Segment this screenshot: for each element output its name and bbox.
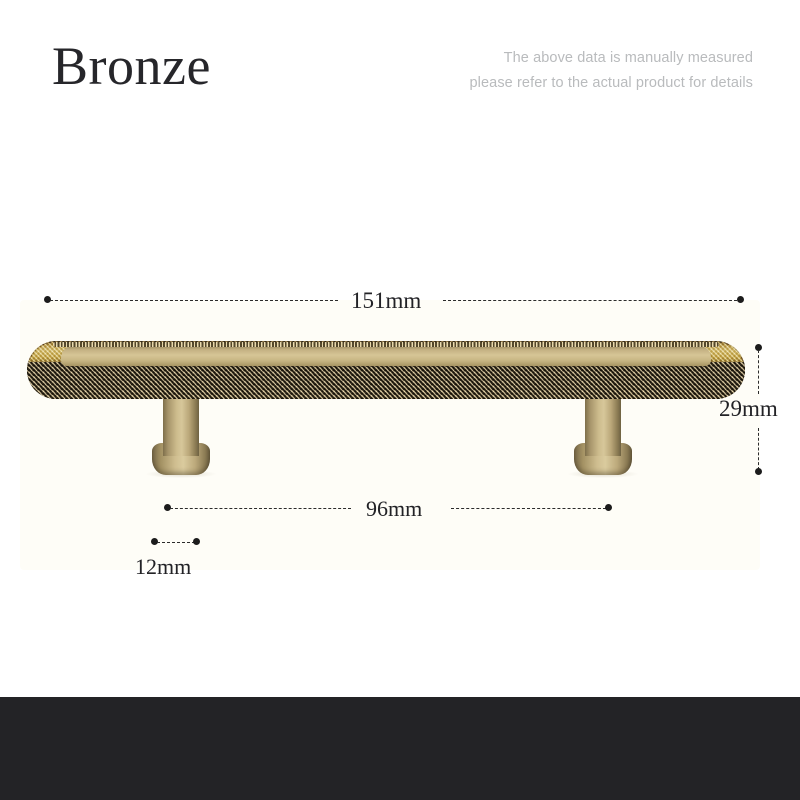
dimension-label-projection-height: 29mm [719,396,778,422]
mounting-post-right [585,396,621,456]
spec-bar: Material / Solid Brass Weight / 113g [0,697,800,800]
beaded-rim [53,342,719,347]
dimension-endpoint-dot [605,504,612,511]
dimension-line [157,542,195,543]
product-spec-image: Bronze The above data is manually measur… [0,0,800,800]
dimension-label-post-diameter: 12mm [135,554,191,580]
dimension-line-right [451,508,606,509]
dimension-line-left [170,508,351,509]
knurled-texture-band [27,362,745,399]
dimension-endpoint-dot [193,538,200,545]
mounting-post-left [163,396,199,456]
product-illustration [0,0,800,800]
dimension-line-lower [758,428,759,470]
handle-bar [27,341,745,399]
dimension-line-upper [758,350,759,394]
dimension-endpoint-dot [755,468,762,475]
dimension-label-center-to-center: 96mm [366,496,422,522]
brushed-top-face [61,346,711,366]
